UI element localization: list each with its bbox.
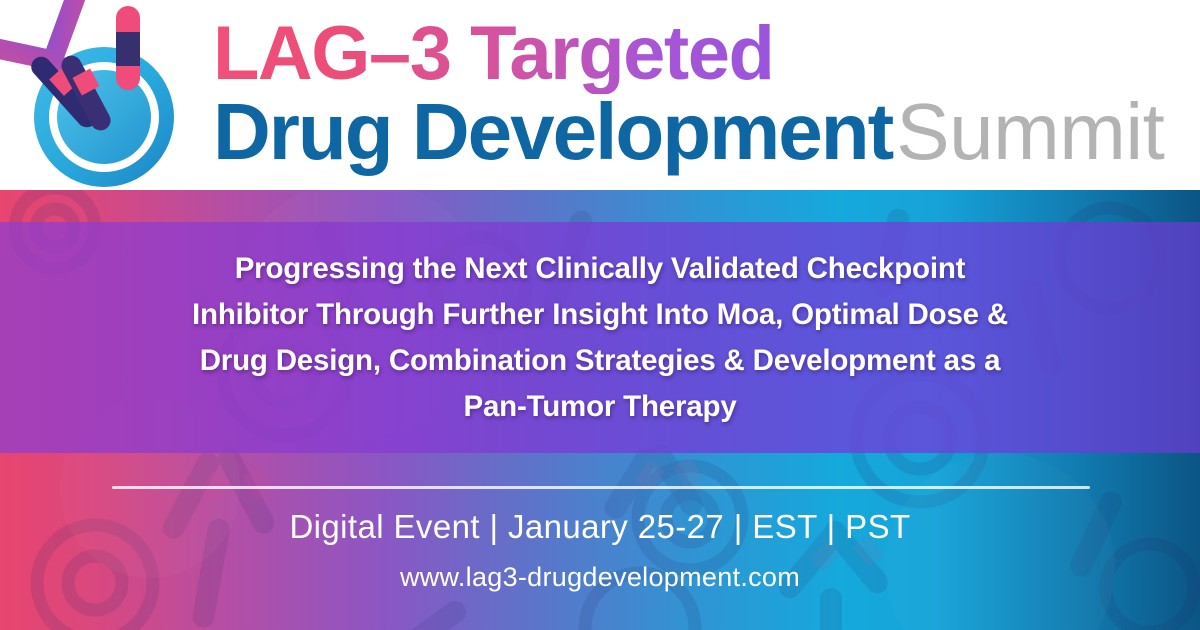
headline-line-4: Pan-Tumor Therapy — [40, 384, 1160, 430]
headline-line-2: Inhibitor Through Further Insight Into M… — [40, 292, 1160, 338]
logo-wordmark: LAG–3 Targeted Drug DevelopmentSummit — [213, 8, 1200, 190]
logo-band: LAG–3 Targeted Drug DevelopmentSummit — [0, 0, 1200, 190]
footer-details: Digital Event | January 25-27 | EST | PS… — [0, 505, 1200, 625]
footer-divider — [112, 486, 1090, 489]
event-banner: LAG–3 Targeted Drug DevelopmentSummit — [0, 0, 1200, 630]
logo-summit-text: Summit — [896, 87, 1164, 176]
headline-line-1: Progressing the Next Clinically Validate… — [40, 246, 1160, 292]
lag3-target-antibody-logo-icon — [0, 0, 207, 190]
logo-title-line1: LAG–3 Targeted — [213, 14, 773, 94]
headline-overlay-panel: Progressing the Next Clinically Validate… — [0, 222, 1200, 453]
event-headline: Progressing the Next Clinically Validate… — [40, 246, 1160, 430]
logo-drug-development-text: Drug Development — [213, 87, 892, 176]
headline-line-3: Drug Design, Combination Strategies & De… — [40, 338, 1160, 384]
event-details-text: Digital Event | January 25-27 | EST | PS… — [0, 505, 1200, 549]
logo-title-line2: Drug DevelopmentSummit — [213, 88, 1164, 190]
event-website-url[interactable]: www.lag3-drugdevelopment.com — [0, 559, 1200, 595]
